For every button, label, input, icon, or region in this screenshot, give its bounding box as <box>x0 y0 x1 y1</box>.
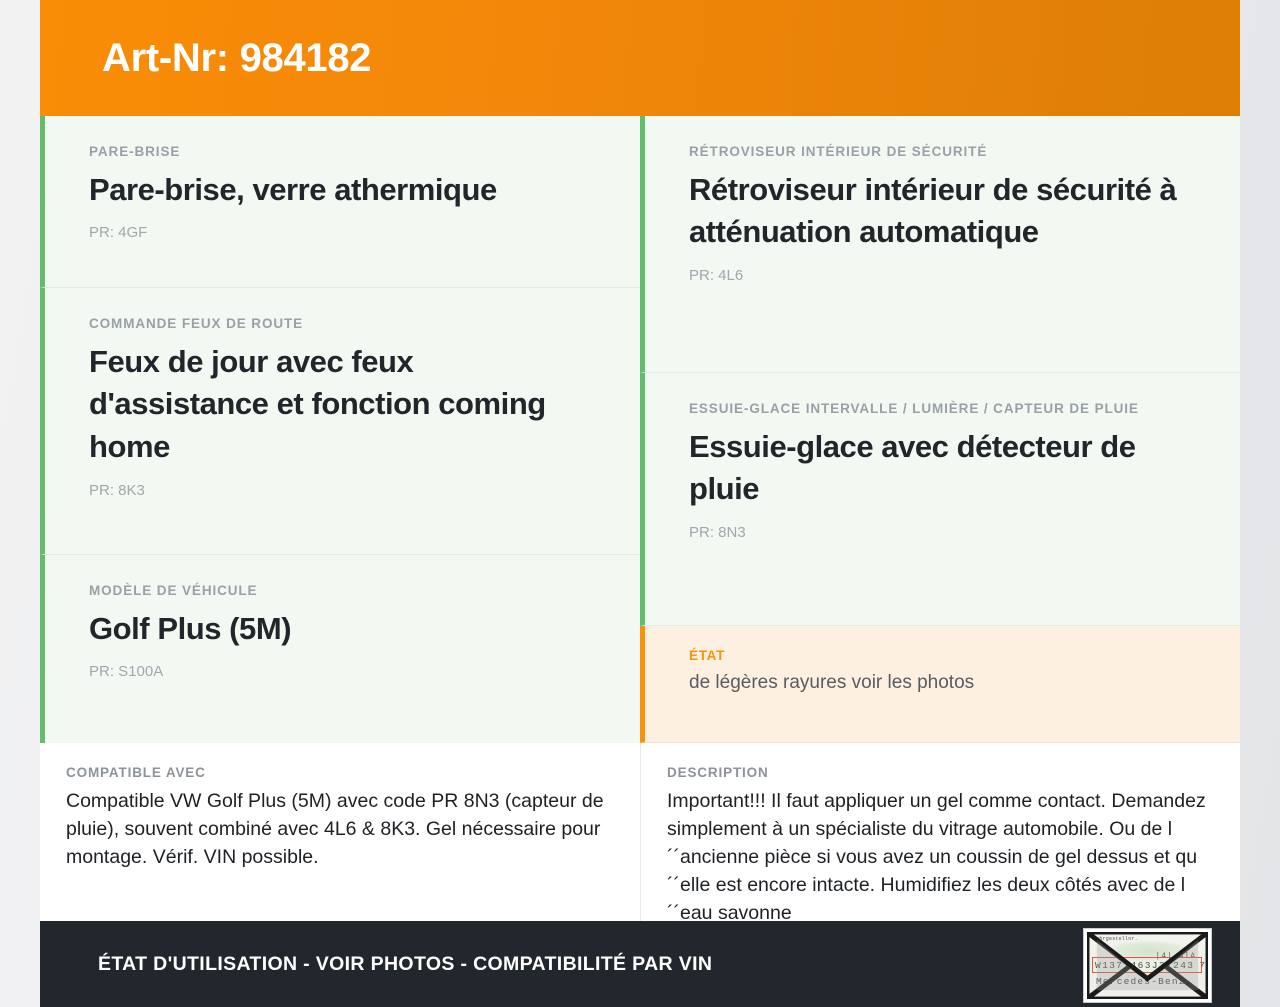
envelope-icon <box>1087 932 1208 999</box>
vin-document-thumbnail[interactable]: Fahrgestellnr. |4| AlA W1371463J31243 7 … <box>1083 928 1212 1003</box>
product-card: Art-Nr: 984182 PARE-BRISE Pare-brise, ve… <box>40 0 1240 1007</box>
spec-card-rearview-mirror[interactable]: RÉTROVISEUR INTÉRIEUR DE SÉCURITÉ Rétrov… <box>640 116 1240 373</box>
spec-card-vehicle-model[interactable]: MODÈLE DE VÉHICULE Golf Plus (5M) PR: S1… <box>40 555 640 743</box>
spec-value: Feux de jour avec feux d'assistance et f… <box>89 341 596 469</box>
spec-label: ESSUIE-GLACE INTERVALLE / LUMIÈRE / CAPT… <box>689 399 1196 419</box>
spec-label: RÉTROVISEUR INTÉRIEUR DE SÉCURITÉ <box>689 142 1196 162</box>
spec-pr-code: PR: 4L6 <box>689 265 1196 286</box>
description-label: DESCRIPTION <box>667 765 1210 780</box>
spec-card-condition[interactable]: ÉTAT de légères rayures voir les photos <box>640 626 1240 743</box>
spec-column-right: RÉTROVISEUR INTÉRIEUR DE SÉCURITÉ Rétrov… <box>640 116 1240 743</box>
spec-card-rain-sensor[interactable]: ESSUIE-GLACE INTERVALLE / LUMIÈRE / CAPT… <box>640 373 1240 626</box>
spec-card-headlights[interactable]: COMMANDE FEUX DE ROUTE Feux de jour avec… <box>40 288 640 555</box>
page-title: Art-Nr: 984182 <box>40 36 371 80</box>
spec-value: Golf Plus (5M) <box>89 608 596 651</box>
spec-pr-code: PR: S100A <box>89 661 596 682</box>
description-section: DESCRIPTION Important!!! Il faut appliqu… <box>640 743 1240 921</box>
text-grid: COMPATIBLE AVEC Compatible VW Golf Plus … <box>40 743 1240 921</box>
spec-value: Pare-brise, verre athermique <box>89 169 596 212</box>
header-bar: Art-Nr: 984182 <box>40 0 1240 116</box>
spec-label: MODÈLE DE VÉHICULE <box>89 581 596 601</box>
spec-label: COMMANDE FEUX DE ROUTE <box>89 314 596 334</box>
status-badge: ÉTAT <box>689 646 1196 666</box>
spec-label: PARE-BRISE <box>89 142 596 162</box>
spec-grid: PARE-BRISE Pare-brise, verre athermique … <box>40 116 1240 743</box>
compatibility-section: COMPATIBLE AVEC Compatible VW Golf Plus … <box>40 743 640 921</box>
description-text: Important!!! Il faut appliquer un gel co… <box>667 788 1210 921</box>
compatibility-text: Compatible VW Golf Plus (5M) avec code P… <box>66 788 610 872</box>
spec-value: Rétroviseur intérieur de sécurité à atté… <box>689 169 1196 255</box>
spec-pr-code: PR: 4GF <box>89 222 596 243</box>
spec-card-windshield[interactable]: PARE-BRISE Pare-brise, verre athermique … <box>40 116 640 288</box>
footer-bar: ÉTAT D'UTILISATION - VOIR PHOTOS - COMPA… <box>40 921 1240 1007</box>
compatibility-label: COMPATIBLE AVEC <box>66 765 610 780</box>
condition-text: de légères rayures voir les photos <box>689 669 1196 697</box>
spec-pr-code: PR: 8N3 <box>689 522 1196 543</box>
footer-notice: ÉTAT D'UTILISATION - VOIR PHOTOS - COMPA… <box>40 953 712 976</box>
spec-column-left: PARE-BRISE Pare-brise, verre athermique … <box>40 116 640 743</box>
spec-value: Essuie-glace avec détecteur de pluie <box>689 426 1196 512</box>
spec-pr-code: PR: 8K3 <box>89 480 596 501</box>
